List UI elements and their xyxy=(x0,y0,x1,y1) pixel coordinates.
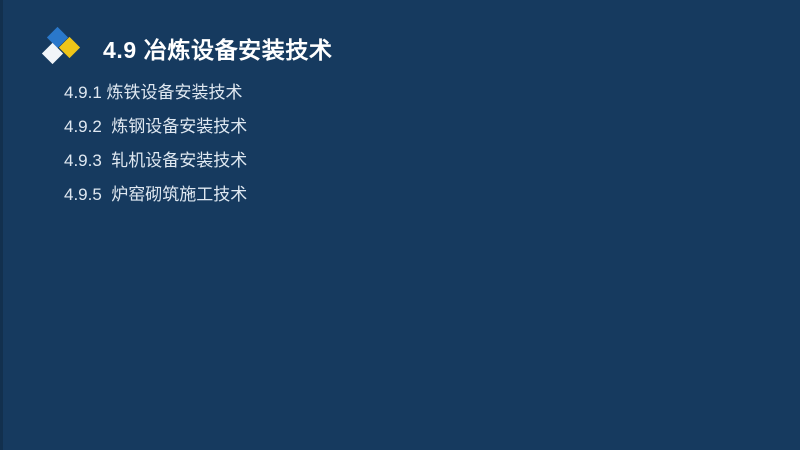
slide-canvas: 4.9 冶炼设备安装技术 4.9.1 炼铁设备安装技术 4.9.2 炼钢设备安装… xyxy=(0,0,800,450)
page-title: 4.9 冶炼设备安装技术 xyxy=(103,39,333,62)
slide-title-row: 4.9 冶炼设备安装技术 xyxy=(44,28,333,72)
list-item[interactable]: 4.9.2 炼钢设备安装技术 xyxy=(64,118,247,138)
list-item[interactable]: 4.9.1 炼铁设备安装技术 xyxy=(64,84,247,104)
list-item[interactable]: 4.9.3 轧机设备安装技术 xyxy=(64,152,247,172)
list-item[interactable]: 4.9.5 炉窑砌筑施工技术 xyxy=(64,186,247,206)
three-diamond-logo xyxy=(44,28,90,72)
table-of-contents-list: 4.9.1 炼铁设备安装技术 4.9.2 炼钢设备安装技术 4.9.3 轧机设备… xyxy=(64,84,247,220)
